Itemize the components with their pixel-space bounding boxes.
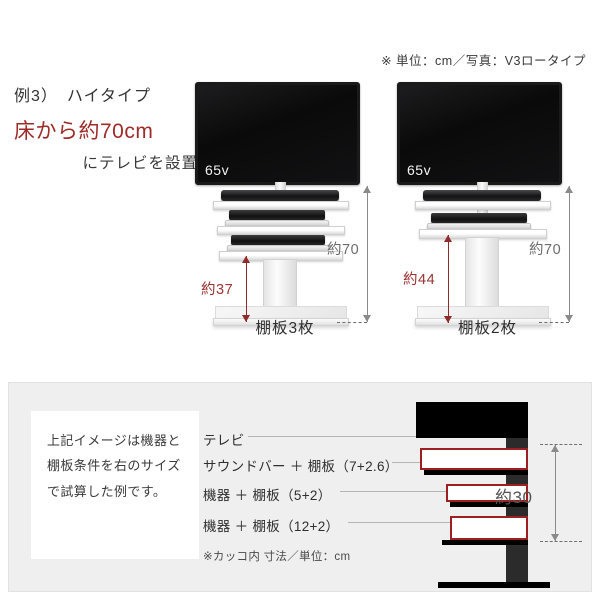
schematic-bar-soundbar xyxy=(424,470,528,475)
pedestal-column xyxy=(465,237,499,313)
unit-notice: ※ 単位：cm／写真：V3ロータイプ xyxy=(381,50,586,69)
soundbar xyxy=(423,190,541,201)
dimension-label-total: 約70 xyxy=(529,238,561,259)
tv-panel: 65v xyxy=(397,82,562,185)
schematic-dash-bottom xyxy=(540,541,582,542)
soundbar xyxy=(221,190,339,201)
schematic-footnote: ※カッコ内 寸法／単位：cm xyxy=(203,548,350,564)
dimension-label-lower: 約37 xyxy=(201,278,233,299)
pedestal-column xyxy=(263,259,297,313)
note-box: 上記イメージは機器と棚板条件を右のサイズで試算した例です。 xyxy=(31,411,199,559)
schematic-base-bar xyxy=(438,582,550,588)
tv-panel: 65v xyxy=(195,82,360,185)
dimension-arrow-total xyxy=(569,186,570,322)
dimension-arrow-total xyxy=(367,186,368,322)
schematic-box-device-2 xyxy=(450,516,528,540)
schematic-box-soundbar xyxy=(420,448,528,470)
stand-illustration-right: 65v 約44 約70 棚板2枚 xyxy=(385,78,590,338)
dimension-label-total: 約70 xyxy=(327,238,359,259)
stand-caption-right: 棚板2枚 xyxy=(385,316,590,338)
dimension-label-lower: 約44 xyxy=(403,268,435,289)
schematic-bar-device-2 xyxy=(442,540,528,545)
av-device-2 xyxy=(231,235,325,245)
stand-caption-left: 棚板3枚 xyxy=(185,316,385,338)
schematic-dash-top xyxy=(540,444,582,445)
shelf-plate-1 xyxy=(213,201,349,210)
tv-size-label: 65v xyxy=(407,162,431,178)
product-spec-illustration: ※ 単位：cm／写真：V3ロータイプ 例3） ハイタイプ 床から約70cm にテ… xyxy=(0,0,600,600)
leader-line-tv xyxy=(248,436,418,437)
stand-illustration-left: 65v 約37 約70 棚板3枚 xyxy=(185,78,385,338)
av-device-1 xyxy=(229,210,325,220)
av-device-1 xyxy=(431,213,527,223)
dimension-arrow-lower xyxy=(246,256,247,322)
shelf-plate-2 xyxy=(217,226,345,235)
schematic-dimension-arrow xyxy=(555,445,556,541)
tv-size-label: 65v xyxy=(205,162,229,178)
shelf-plate-1 xyxy=(415,201,551,210)
headline-height-accent: 床から約70cm xyxy=(14,115,204,145)
schematic-dimension-label: 約30 xyxy=(495,483,532,508)
headline-block: 例3） ハイタイプ 床から約70cm にテレビを設置 xyxy=(14,82,204,173)
schematic-tv-block xyxy=(416,402,528,438)
dimension-arrow-lower xyxy=(448,235,449,323)
headline-subtext: にテレビを設置 xyxy=(14,151,204,173)
headline-example-label: 例3） ハイタイプ xyxy=(14,82,204,106)
